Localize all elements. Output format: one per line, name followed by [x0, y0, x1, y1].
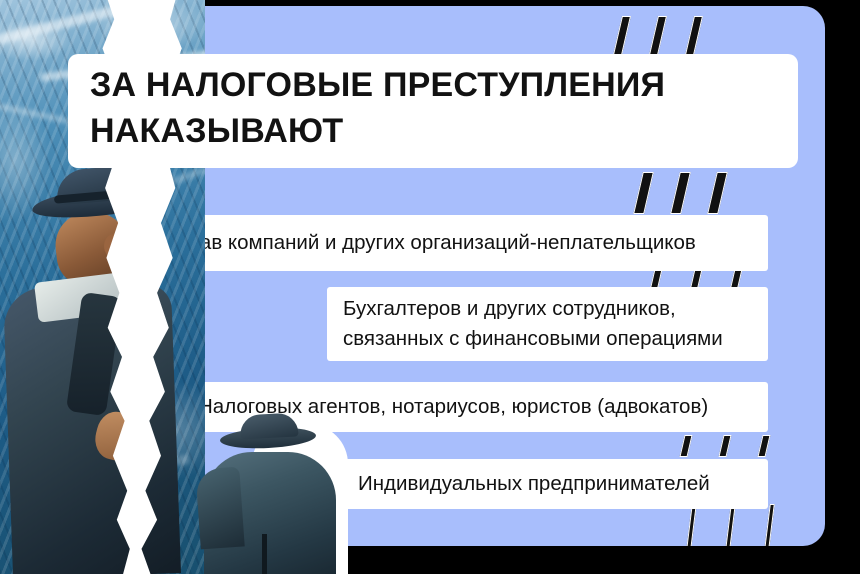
list-item-text: Глав компаний и других организаций-непла… [178, 228, 752, 258]
slanted-mark-icon [757, 435, 770, 457]
slanted-stripe-icon [707, 172, 728, 214]
list-item: Бухгалтеров и других сотрудников, связан… [327, 287, 768, 361]
slanted-mark-icon [718, 435, 731, 457]
decoration-slanted-marks-lower [682, 435, 768, 457]
list-item-text: связанных с финансовыми операциями [343, 324, 752, 354]
page-title-line-1: ЗА НАЛОГОВЫЕ ПРЕСТУПЛЕНИЯ [90, 62, 776, 108]
infographic-canvas: Глав компаний и других организаций-непла… [0, 0, 860, 574]
figure-hat-crown [239, 412, 298, 439]
figure-man-back-view [196, 414, 346, 574]
thin-slanted-line-icon [684, 504, 697, 546]
list-item: Индивидуальных предпринимателей [342, 459, 768, 509]
thin-slanted-line-icon [723, 504, 736, 546]
slanted-mark-icon [679, 435, 692, 457]
figure-coat-seam [262, 534, 267, 574]
list-item-text: Бухгалтеров и других сотрудников, [343, 294, 752, 324]
list-item-text: Индивидуальных предпринимателей [358, 469, 752, 499]
decoration-thin-lines-bottom [688, 504, 771, 546]
page-title-line-2: НАКАЗЫВАЮТ [90, 108, 776, 154]
decoration-slanted-stripes-upper [638, 172, 723, 214]
thin-slanted-line-icon [762, 504, 775, 546]
page-title: ЗА НАЛОГОВЫЕ ПРЕСТУПЛЕНИЯ НАКАЗЫВАЮТ [68, 54, 798, 168]
slanted-stripe-icon [670, 172, 691, 214]
figure-shoulder [195, 467, 244, 550]
slanted-stripe-icon [633, 172, 654, 214]
list-item: Глав компаний и других организаций-непла… [162, 215, 768, 271]
